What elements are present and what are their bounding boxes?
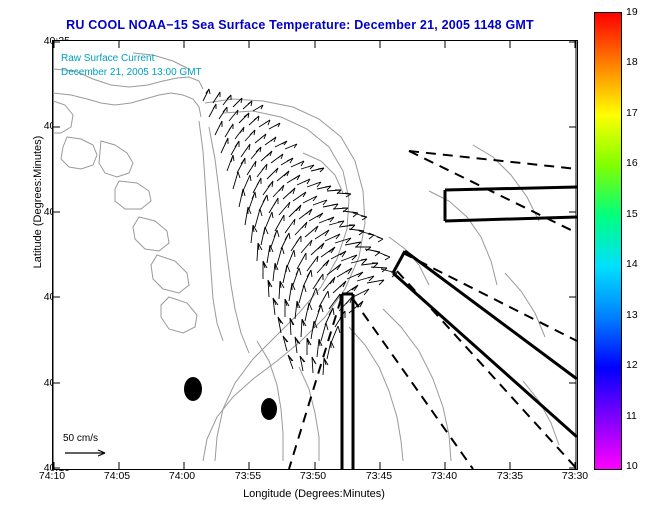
x-tick-label: 73:55 [218, 470, 278, 482]
colorbar-tick: 14 [626, 258, 638, 270]
x-tick-label: 73:50 [283, 470, 343, 482]
x-axis-title: Longitude (Degrees:Minutes) [52, 488, 576, 500]
chart-title: RU COOL NOAA−15 Sea Surface Temperature:… [0, 18, 600, 32]
x-tick-label: 73:30 [545, 470, 605, 482]
colorbar-tick: 19 [626, 6, 638, 18]
figure-root: RU COOL NOAA−15 Sea Surface Temperature:… [0, 0, 651, 519]
x-tick-label: 74:00 [152, 470, 212, 482]
reference-vector-arrow [65, 450, 105, 456]
buoy-marker [184, 377, 202, 401]
x-tick-label: 73:45 [349, 470, 409, 482]
colorbar-tick: 18 [626, 56, 638, 68]
map-plot-area[interactable]: Raw Surface Current December 21, 2005 13… [52, 40, 578, 470]
colorbar-gradient [595, 13, 621, 469]
colorbar-tick: 13 [626, 309, 638, 321]
colorbar-tick: 15 [626, 208, 638, 220]
annotation-line-2: December 21, 2005 13:00 GMT [61, 67, 202, 78]
x-tick-label: 74:05 [87, 470, 147, 482]
x-tick-label: 73:40 [414, 470, 474, 482]
colorbar-tick: 11 [626, 410, 637, 422]
colorbar-tick: 10 [626, 460, 638, 472]
scale-label: 50 cm/s [63, 433, 98, 444]
colorbar [594, 12, 622, 470]
colorbar-tick: 16 [626, 157, 638, 169]
colorbar-tick: 17 [626, 107, 638, 119]
x-tick-label: 74:10 [22, 470, 82, 482]
buoy-marker [261, 398, 277, 420]
current-vector-field [203, 89, 397, 375]
axis-ticks [53, 41, 576, 469]
x-tick-label: 73:35 [480, 470, 540, 482]
map-svg [53, 41, 577, 469]
colorbar-tick: 12 [626, 359, 638, 371]
annotation-line-1: Raw Surface Current [61, 53, 154, 64]
y-axis-title: Latitude (Degrees:Minutes) [32, 102, 44, 302]
